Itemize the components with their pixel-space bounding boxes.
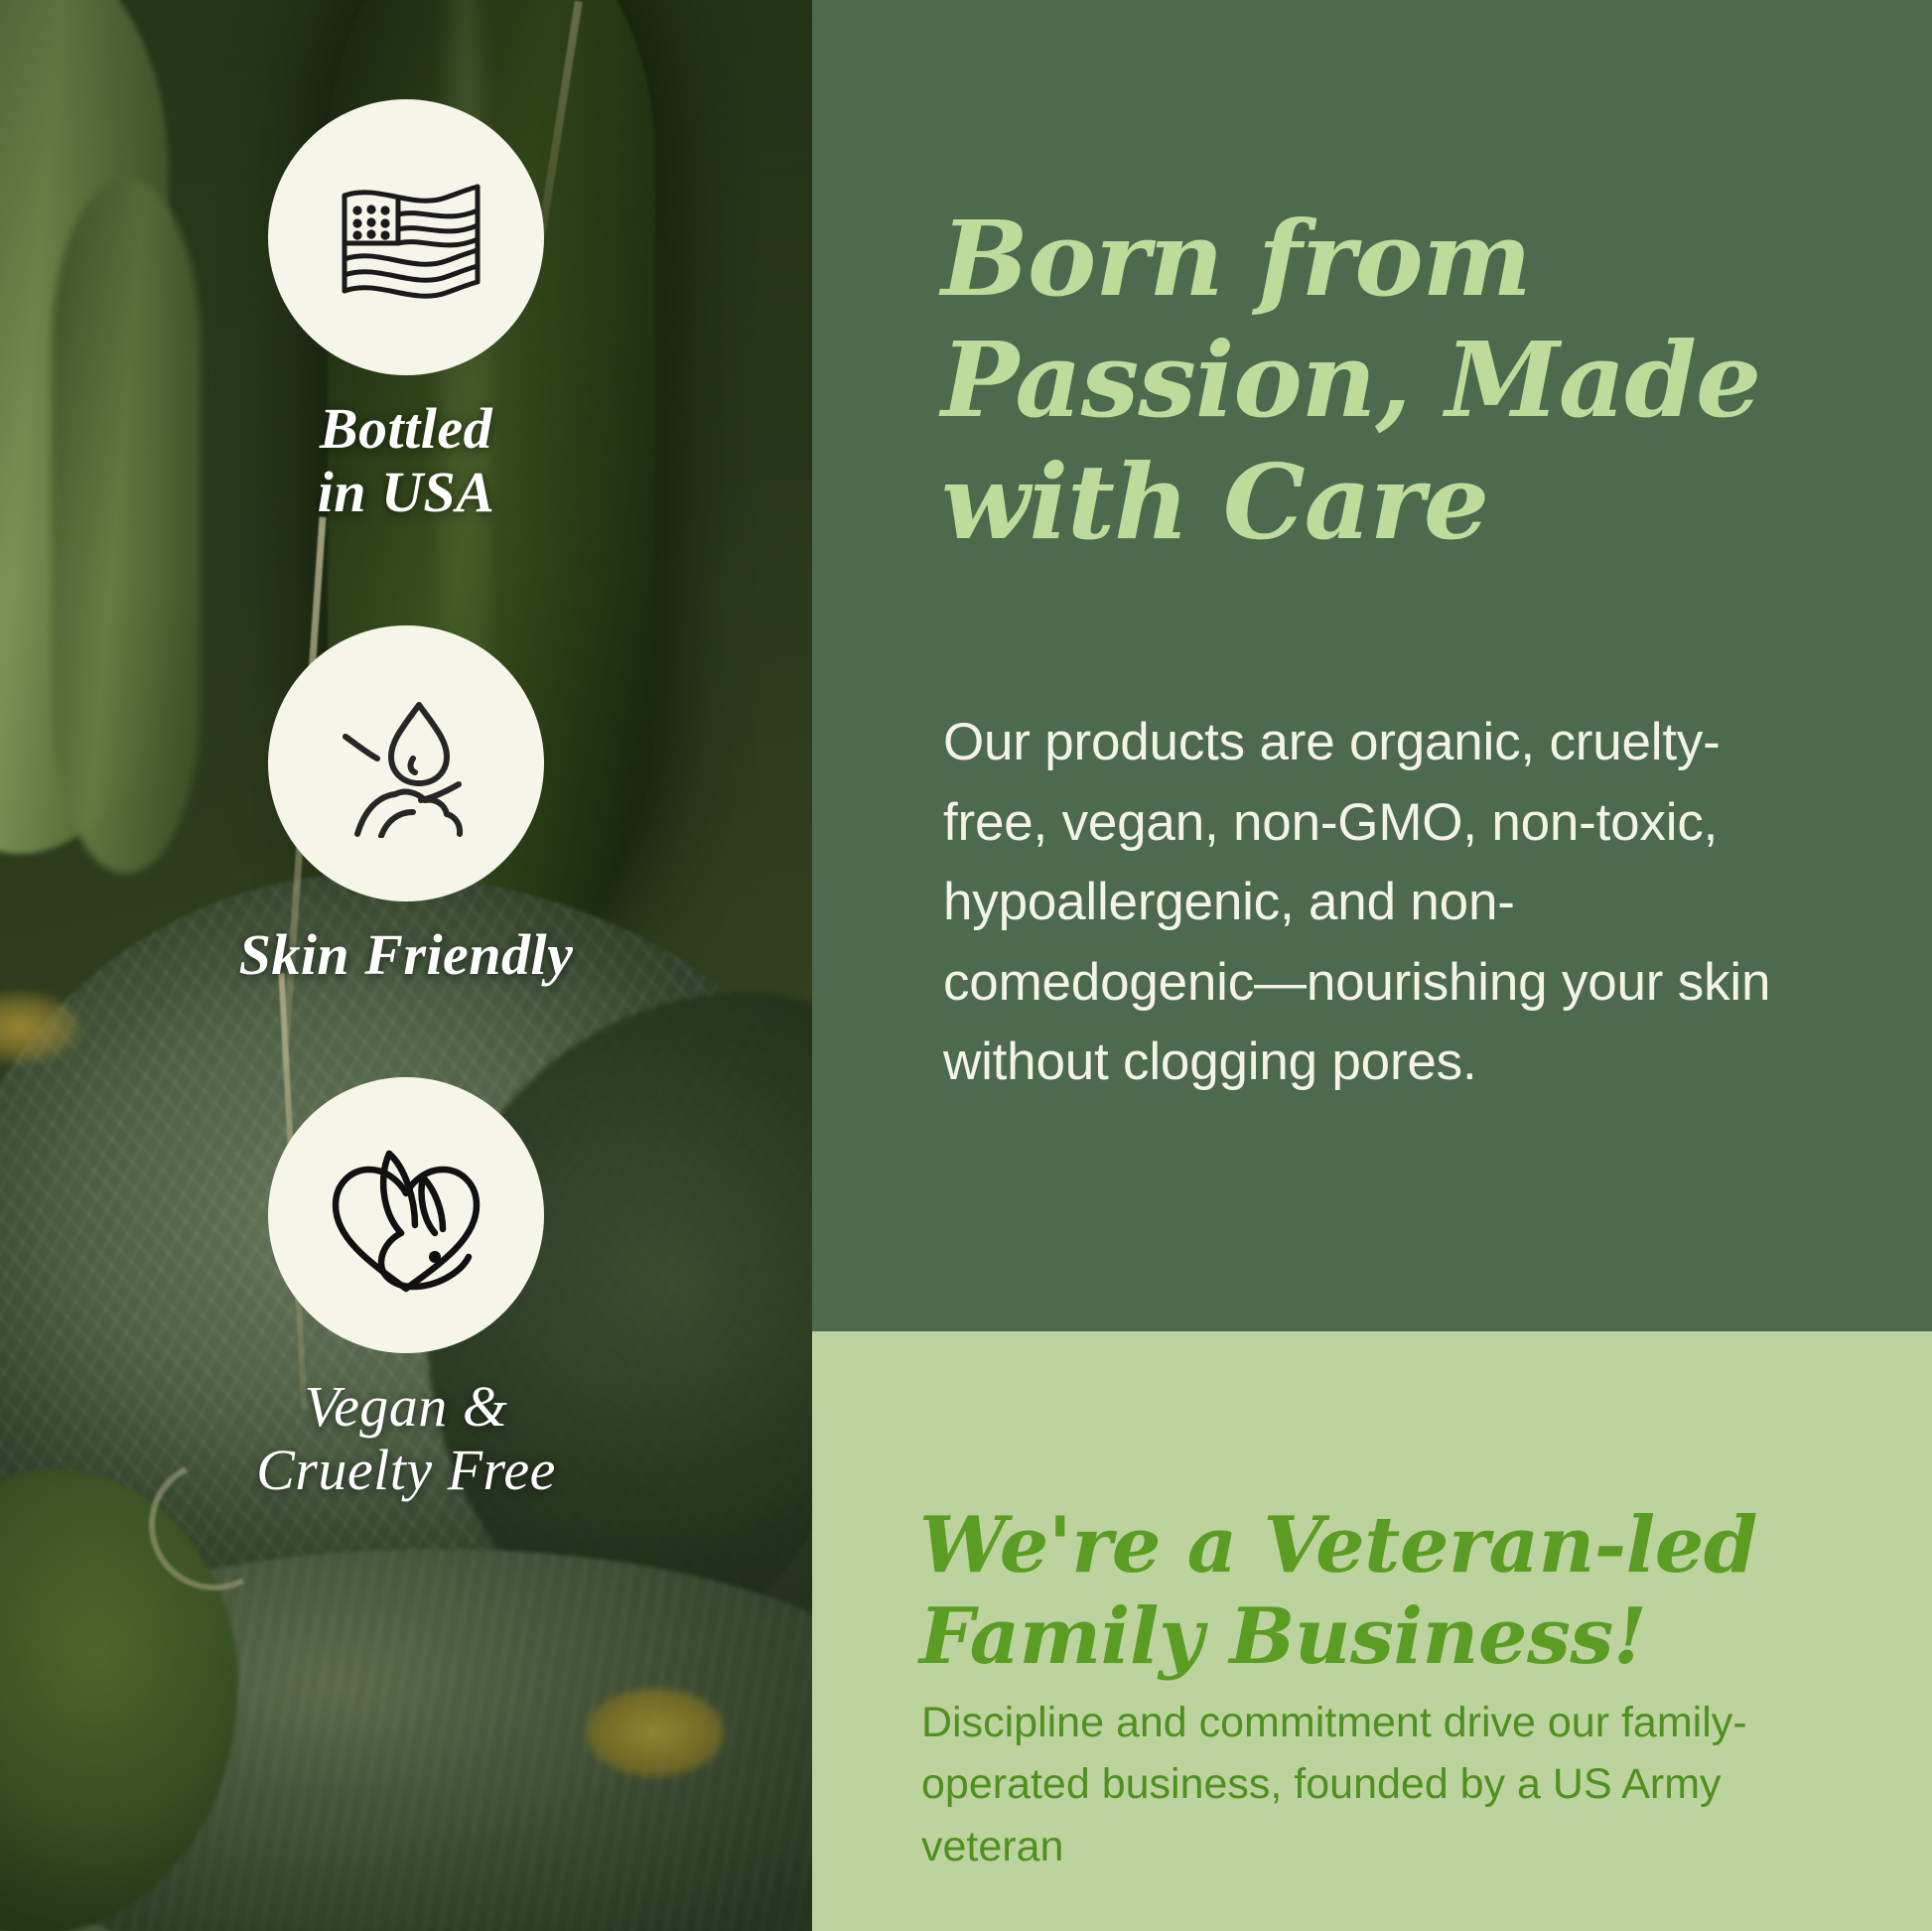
badge-vegan-cruelty-free: Vegan & Cruelty Free (0, 1077, 812, 1502)
badge-circle (268, 99, 544, 375)
badge-bottled-in-usa: Bottled in USA (0, 99, 812, 524)
bunny-heart-icon (320, 1134, 493, 1298)
about-section: Born from Passion, Made with Care Our pr… (812, 0, 1932, 1331)
water-drop-hand-icon (322, 689, 490, 838)
badge-label: Vegan & Cruelty Free (0, 1375, 812, 1502)
badge-circle (268, 625, 544, 901)
badge-label: Bottled in USA (0, 397, 812, 524)
page-title: Born from Passion, Made with Care (941, 199, 1864, 564)
promo-graphic: Bottled in USA (0, 0, 1932, 1931)
badge-circle (268, 1077, 544, 1353)
usa-flag-icon (327, 168, 485, 307)
about-body-text: Our products are organic, cruelty-free, … (943, 703, 1817, 1103)
badge-skin-friendly: Skin Friendly (0, 625, 812, 987)
veteran-section: We're a Veteran-led Family Business! Dis… (812, 1331, 1932, 1931)
veteran-heading: We're a Veteran-led Family Business! (919, 1500, 1872, 1683)
badge-label: Skin Friendly (0, 923, 812, 987)
veteran-body-text: Discipline and commitment drive our fami… (921, 1692, 1845, 1877)
trust-badge-list: Bottled in USA (0, 0, 812, 1931)
